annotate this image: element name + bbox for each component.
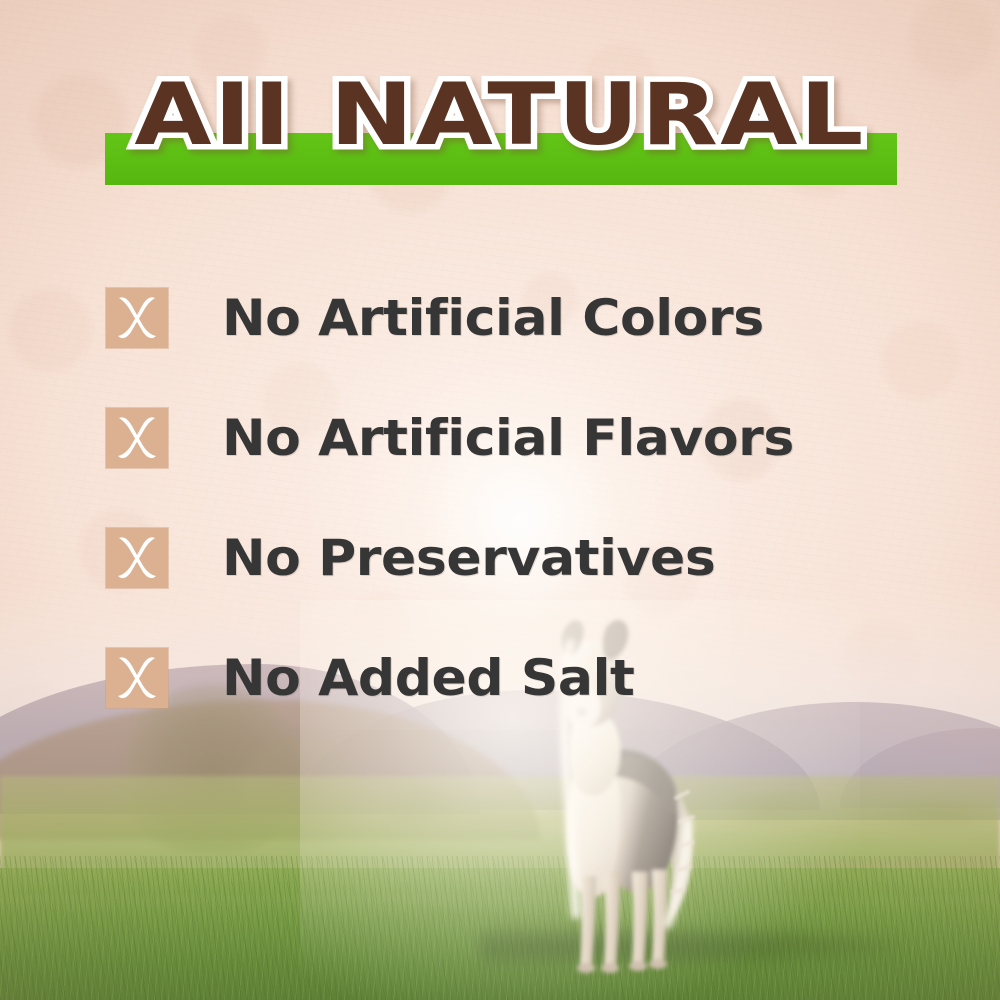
page-title: AII NATURAL <box>0 72 1000 158</box>
checkbox-no-artificial-flavors <box>106 408 168 468</box>
x-mark-icon <box>108 650 166 706</box>
x-mark-icon <box>108 410 166 466</box>
benefit-label: No Artificial Colors <box>222 293 764 343</box>
benefit-row-no-added-salt: No Added Salt <box>106 618 926 738</box>
benefit-label: No Artificial Flavors <box>222 413 794 463</box>
x-mark-icon <box>108 290 166 346</box>
checkbox-no-added-salt <box>106 648 168 708</box>
benefit-label: No Added Salt <box>222 653 634 703</box>
benefit-label: No Preservatives <box>222 533 715 583</box>
checkbox-no-preservatives <box>106 528 168 588</box>
benefit-row-no-preservatives: No Preservatives <box>106 498 926 618</box>
benefits-list: No Artificial Colors No Artificial Flavo… <box>106 258 926 738</box>
benefit-row-no-artificial-flavors: No Artificial Flavors <box>106 378 926 498</box>
x-mark-icon <box>108 530 166 586</box>
all-natural-poster: AII NATURAL No Artificial Colors No Arti… <box>0 0 1000 1000</box>
benefit-row-no-artificial-colors: No Artificial Colors <box>106 258 926 378</box>
checkbox-no-artificial-colors <box>106 288 168 348</box>
